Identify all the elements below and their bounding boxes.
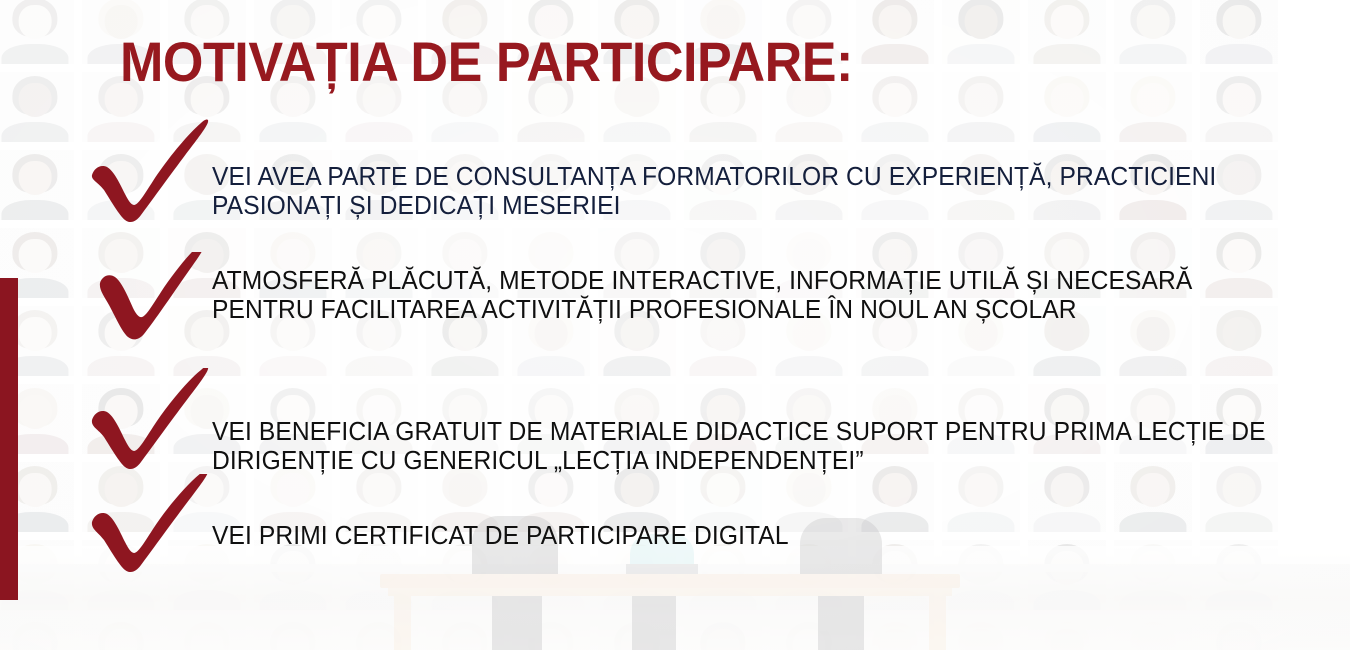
bullet-text-3: VEI BENEFICIA GRATUIT DE MATERIALE DIDAC… [212, 418, 1274, 476]
check-mark-icon [82, 474, 214, 586]
page-title: MOTIVAȚIA DE PARTICIPARE: [120, 33, 853, 90]
bullet-text-1: VEI AVEA PARTE DE CONSULTANȚA FORMATORIL… [212, 163, 1278, 221]
check-mark-icon [82, 368, 214, 484]
check-mark-icon [92, 252, 204, 352]
presentation-slide: MOTIVAȚIA DE PARTICIPARE: VEI AVEA PART [0, 0, 1350, 650]
slide-content: MOTIVAȚIA DE PARTICIPARE: VEI AVEA PART [0, 0, 1350, 650]
bullet-text-2: ATMOSFERĂ PLĂCUTĂ, METODE INTERACTIVE, I… [212, 267, 1264, 325]
check-mark-icon [82, 112, 214, 230]
bullet-text-4: VEI PRIMI CERTIFICAT DE PARTICIPARE DIGI… [212, 522, 1177, 551]
